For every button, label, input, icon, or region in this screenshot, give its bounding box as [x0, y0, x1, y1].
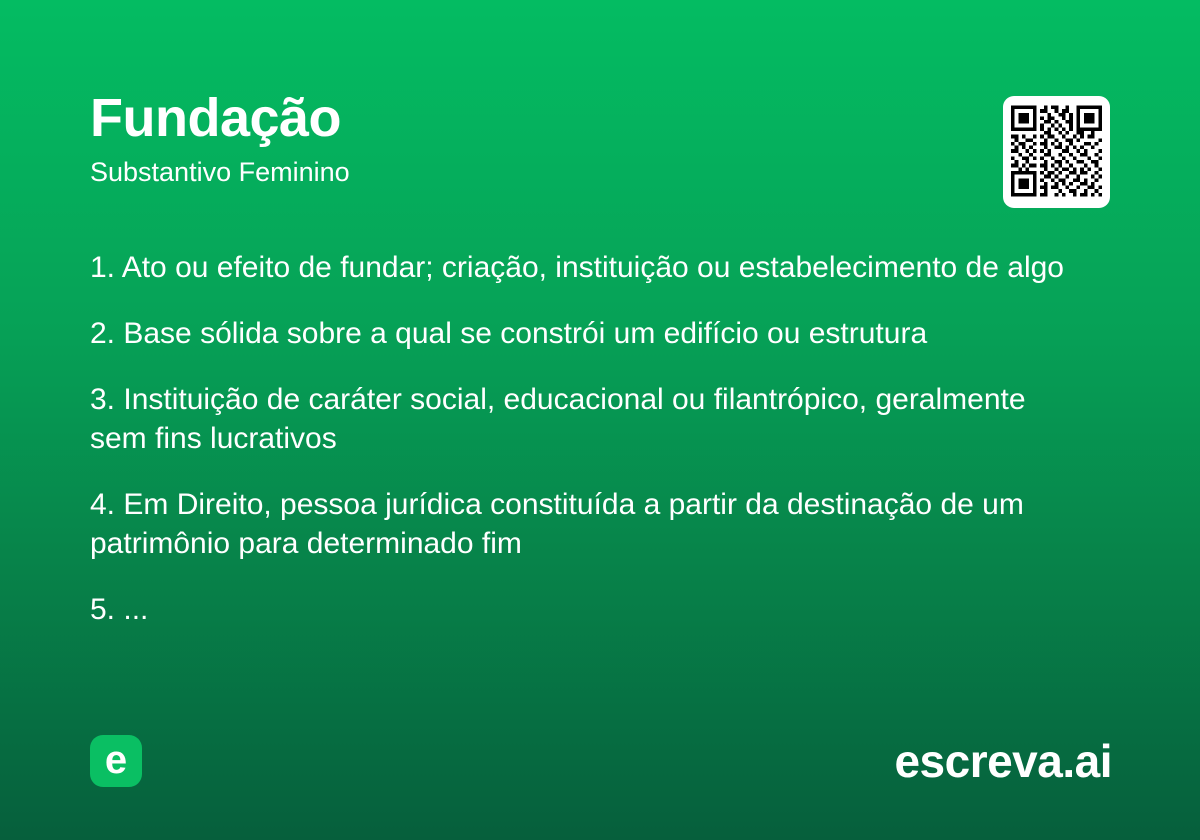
grammatical-class-label: Substantivo Feminino	[90, 156, 1110, 190]
definition-item: 1. Ato ou efeito de fundar; criação, ins…	[90, 248, 1090, 287]
logo-letter: e	[105, 740, 127, 780]
page-title: Fundação	[90, 88, 1110, 148]
definition-list: 1. Ato ou efeito de fundar; criação, ins…	[90, 248, 1090, 629]
definition-item: 4. Em Direito, pessoa jurídica constituí…	[90, 485, 1090, 563]
definition-item: 5. ...	[90, 590, 1090, 629]
escreva-logo-icon[interactable]: e	[90, 735, 142, 787]
card-header: Fundação Substantivo Feminino	[90, 88, 1110, 190]
qr-code-icon[interactable]	[1003, 96, 1110, 208]
brand-wordmark: escreva.ai	[894, 738, 1112, 784]
card-footer: e escreva.ai	[90, 734, 1112, 788]
dictionary-card: Fundação Substantivo Feminino	[0, 0, 1200, 840]
definition-item: 2. Base sólida sobre a qual se constrói …	[90, 314, 1090, 353]
definition-item: 3. Instituição de caráter social, educac…	[90, 380, 1090, 458]
